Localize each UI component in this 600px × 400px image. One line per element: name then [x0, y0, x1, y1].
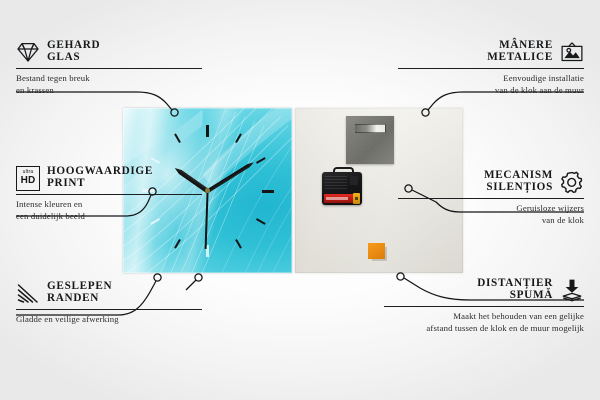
hanger-slot: [354, 124, 386, 133]
ultra-hd-icon: ultra HD: [16, 166, 40, 190]
callout-head: MÂNERE METALICE: [398, 40, 584, 64]
gear-icon: [560, 170, 584, 194]
battery-positive-tip: [353, 193, 360, 204]
callout-title: MECANISM SILENȚIOS: [484, 170, 553, 193]
callout-head: GEHARD GLAS: [16, 40, 202, 64]
clock-second-hand: [205, 190, 209, 248]
ultra-hd-icon-bottom-text: HD: [21, 176, 36, 186]
metal-hanger-plate-icon: [346, 116, 394, 164]
callout-description: Gladde en veilige afwerking: [16, 314, 202, 326]
callout-title: GEHARD GLAS: [47, 40, 100, 63]
callout-rule: [16, 68, 202, 69]
mechanism-body: [322, 172, 362, 205]
diamond-icon: [16, 40, 40, 64]
callout-rule: [398, 198, 584, 199]
callout-rule: [16, 194, 202, 195]
callout-title: DISTANȚIER SPUMĂ: [477, 278, 553, 301]
foam-spacer: [368, 243, 385, 259]
callout-head: GESLEPEN RANDEN: [16, 281, 202, 305]
callout-rule: [384, 306, 584, 307]
battery-label-band: [326, 197, 348, 200]
callout-distantier-spuma: DISTANȚIER SPUMĂ Maakt het behouden van …: [384, 278, 584, 335]
callout-title: MÂNERE METALICE: [487, 40, 553, 63]
infographic-stage: GEHARD GLAS Bestand tegen breuk en krass…: [0, 0, 600, 400]
callout-rule: [16, 309, 202, 310]
spacer-arrow-icon: [560, 278, 584, 302]
callout-title: GESLEPEN RANDEN: [47, 281, 112, 304]
callout-mecanism-silentios: MECANISM SILENȚIOS Geruisloze wijzers va…: [398, 170, 584, 227]
callout-description: Eenvoudige installatie van de klok aan d…: [398, 73, 584, 97]
callout-description: Maakt het behouden van een gelijke afsta…: [384, 311, 584, 335]
callout-description: Geruisloze wijzers van de klok: [398, 203, 584, 227]
callout-rule: [398, 68, 584, 69]
callout-gehard-glas: GEHARD GLAS Bestand tegen breuk en krass…: [16, 40, 202, 97]
mechanism-knob: [350, 176, 358, 185]
aa-battery: [324, 194, 360, 203]
callout-head: ultra HD HOOGWAARDIGE PRINT: [16, 166, 202, 190]
picture-frame-icon: [560, 40, 584, 64]
callout-title: HOOGWAARDIGE PRINT: [47, 166, 153, 189]
clock-hand-hub: [205, 188, 210, 193]
callout-manere-metalice: MÂNERE METALICE Eenvoudige installatie v…: [398, 40, 584, 97]
beveled-edges-icon: [16, 281, 40, 305]
callout-head: DISTANȚIER SPUMĂ: [384, 278, 584, 302]
silent-clock-mechanism: [322, 167, 362, 205]
callout-description: Bestand tegen breuk en krassen: [16, 73, 202, 97]
mechanism-vents: [325, 176, 347, 189]
callout-hoogwaardige-print: ultra HD HOOGWAARDIGE PRINT Intense kleu…: [16, 166, 202, 223]
callout-description: Intense kleuren en een duidelijk beeld: [16, 199, 202, 223]
callout-head: MECANISM SILENȚIOS: [398, 170, 584, 194]
callout-geslepen-randen: GESLEPEN RANDEN Gladde en veilige afwerk…: [16, 281, 202, 326]
clock-minute-hand: [206, 160, 254, 192]
